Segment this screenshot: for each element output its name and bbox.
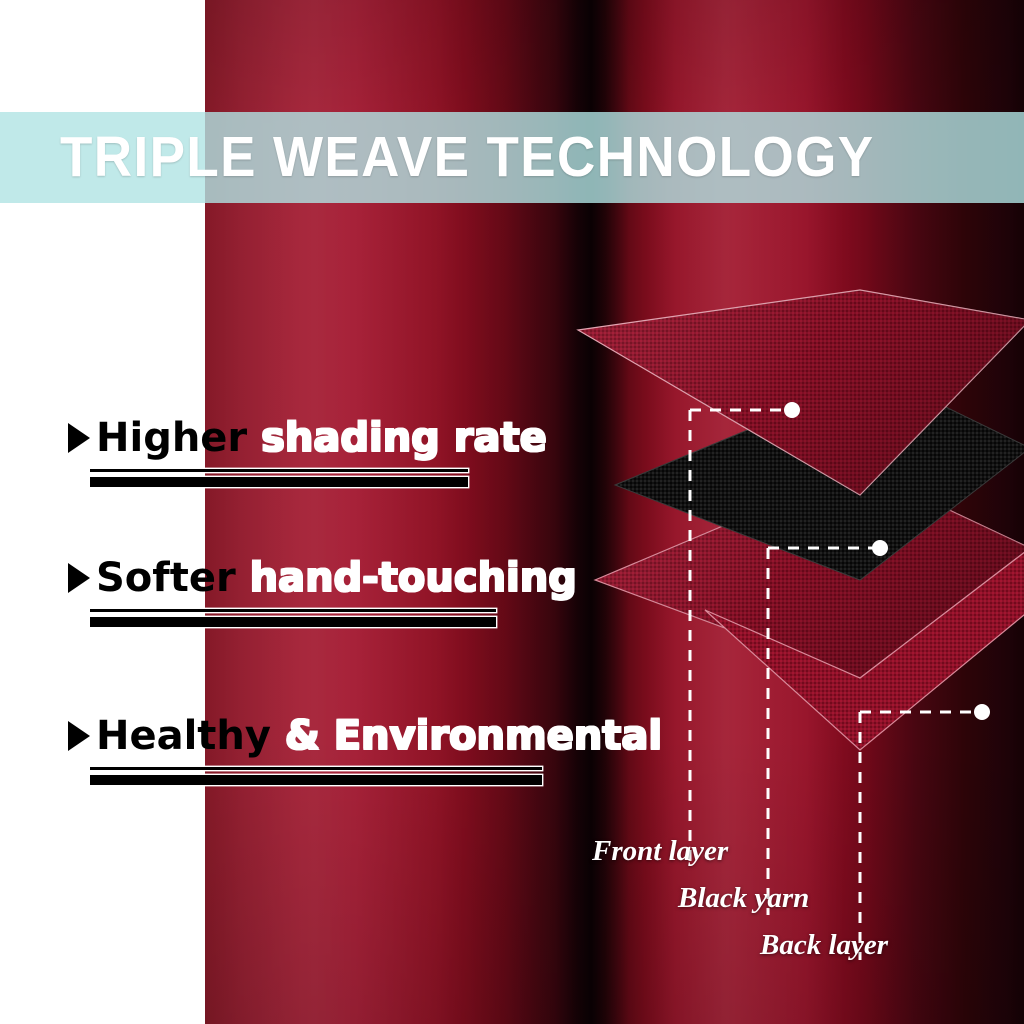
feature-1-underline bbox=[90, 469, 468, 487]
feature-1-row: Higher shading rate bbox=[68, 418, 547, 458]
feature-3-underline bbox=[90, 767, 542, 785]
headline-banner: TRIPLE WEAVE TECHNOLOGY bbox=[0, 112, 1024, 203]
product-feature-graphic: TRIPLE WEAVE TECHNOLOGY Higher shading r… bbox=[0, 0, 1024, 1024]
label-front-layer: Front layer bbox=[592, 835, 728, 868]
fabric-layer-diagram bbox=[560, 280, 1024, 900]
feature-item-1: Higher shading rate bbox=[68, 418, 547, 487]
feature-item-2: Softer hand-touching bbox=[68, 558, 577, 627]
label-black-yarn: Black yarn bbox=[678, 882, 809, 915]
triangle-bullet-icon bbox=[68, 721, 90, 751]
feature-3-emphasis: Healthy bbox=[96, 713, 271, 759]
rule-thin bbox=[90, 609, 496, 612]
rule-thin bbox=[90, 767, 542, 770]
rule-thin bbox=[90, 469, 468, 472]
feature-1-rest: shading rate bbox=[247, 415, 547, 461]
feature-1-emphasis: Higher bbox=[96, 415, 247, 461]
leader-dot-yarn bbox=[872, 540, 888, 556]
feature-2-text: Softer hand-touching bbox=[96, 558, 577, 598]
label-back-layer: Back layer bbox=[760, 929, 888, 962]
banner-title: TRIPLE WEAVE TECHNOLOGY bbox=[60, 129, 875, 186]
triangle-bullet-icon bbox=[68, 423, 90, 453]
leader-dot-back bbox=[974, 704, 990, 720]
feature-2-emphasis: Softer bbox=[96, 555, 236, 601]
leader-dot-front bbox=[784, 402, 800, 418]
feature-2-row: Softer hand-touching bbox=[68, 558, 577, 598]
rule-thick bbox=[90, 775, 542, 785]
triangle-bullet-icon bbox=[68, 563, 90, 593]
feature-1-text: Higher shading rate bbox=[96, 418, 547, 458]
rule-thick bbox=[90, 477, 468, 487]
rule-thick bbox=[90, 617, 496, 627]
feature-2-rest: hand-touching bbox=[236, 555, 577, 601]
feature-2-underline bbox=[90, 609, 496, 627]
